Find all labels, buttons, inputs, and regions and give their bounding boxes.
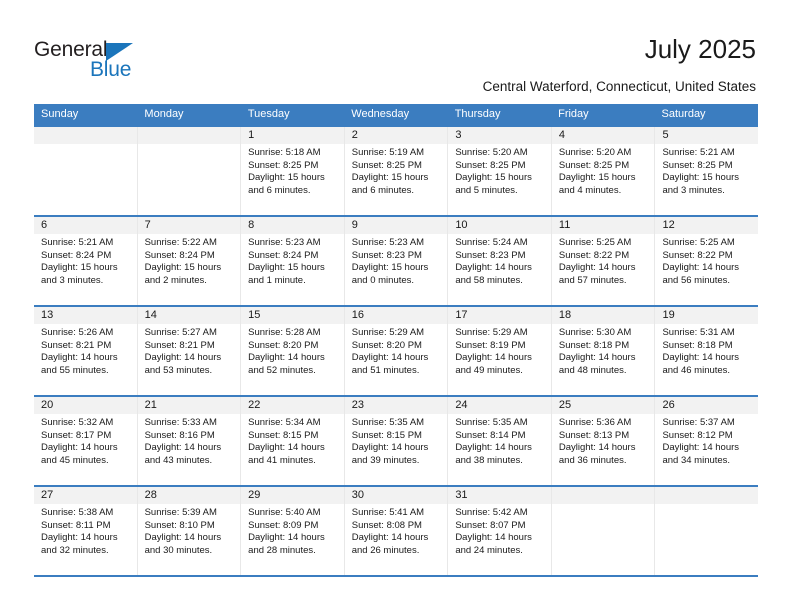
sunrise-text: Sunrise: 5:20 AM	[559, 147, 649, 160]
sunrise-text: Sunrise: 5:26 AM	[41, 327, 131, 340]
sunset-text: Sunset: 8:15 PM	[352, 430, 442, 443]
daylight-text-line2: and 58 minutes.	[455, 275, 545, 288]
day-number: 12	[655, 217, 758, 234]
weekday-header-sunday: Sunday	[34, 104, 137, 125]
day-cell[interactable]	[552, 487, 656, 575]
daylight-text-line2: and 4 minutes.	[559, 185, 649, 198]
day-cell[interactable]: 29 Sunrise: 5:40 AM Sunset: 8:09 PM Dayl…	[241, 487, 345, 575]
sunset-text: Sunset: 8:25 PM	[455, 160, 545, 173]
sunrise-text: Sunrise: 5:21 AM	[41, 237, 131, 250]
daylight-text-line2: and 38 minutes.	[455, 455, 545, 468]
sunset-text: Sunset: 8:21 PM	[145, 340, 235, 353]
day-number: 21	[138, 397, 241, 414]
location-subtitle: Central Waterford, Connecticut, United S…	[483, 79, 756, 94]
daylight-text-line1: Daylight: 14 hours	[248, 352, 338, 365]
day-cell[interactable]: 12 Sunrise: 5:25 AM Sunset: 8:22 PM Dayl…	[655, 217, 758, 305]
day-cell[interactable]: 6 Sunrise: 5:21 AM Sunset: 8:24 PM Dayli…	[34, 217, 138, 305]
day-details: Sunrise: 5:29 AM Sunset: 8:20 PM Dayligh…	[345, 324, 448, 377]
daylight-text-line2: and 49 minutes.	[455, 365, 545, 378]
calendar-week-row: 1 Sunrise: 5:18 AM Sunset: 8:25 PM Dayli…	[34, 125, 758, 215]
sunset-text: Sunset: 8:25 PM	[559, 160, 649, 173]
daylight-text-line1: Daylight: 15 hours	[455, 172, 545, 185]
daylight-text-line2: and 28 minutes.	[248, 545, 338, 558]
sunrise-text: Sunrise: 5:35 AM	[352, 417, 442, 430]
day-cell[interactable]: 19 Sunrise: 5:31 AM Sunset: 8:18 PM Dayl…	[655, 307, 758, 395]
sunset-text: Sunset: 8:24 PM	[41, 250, 131, 263]
sunset-text: Sunset: 8:18 PM	[662, 340, 752, 353]
daylight-text-line1: Daylight: 14 hours	[662, 352, 752, 365]
sunset-text: Sunset: 8:24 PM	[145, 250, 235, 263]
daylight-text-line1: Daylight: 14 hours	[662, 442, 752, 455]
daylight-text-line1: Daylight: 14 hours	[41, 352, 131, 365]
day-details: Sunrise: 5:30 AM Sunset: 8:18 PM Dayligh…	[552, 324, 655, 377]
day-cell[interactable]: 14 Sunrise: 5:27 AM Sunset: 8:21 PM Dayl…	[138, 307, 242, 395]
daylight-text-line1: Daylight: 14 hours	[352, 532, 442, 545]
day-number: 19	[655, 307, 758, 324]
day-details: Sunrise: 5:40 AM Sunset: 8:09 PM Dayligh…	[241, 504, 344, 557]
day-details	[552, 504, 655, 507]
day-details: Sunrise: 5:25 AM Sunset: 8:22 PM Dayligh…	[655, 234, 758, 287]
sunset-text: Sunset: 8:19 PM	[455, 340, 545, 353]
sunset-text: Sunset: 8:24 PM	[248, 250, 338, 263]
sunset-text: Sunset: 8:07 PM	[455, 520, 545, 533]
daylight-text-line1: Daylight: 15 hours	[145, 262, 235, 275]
day-cell[interactable]	[655, 487, 758, 575]
sunset-text: Sunset: 8:20 PM	[248, 340, 338, 353]
day-cell[interactable]: 16 Sunrise: 5:29 AM Sunset: 8:20 PM Dayl…	[345, 307, 449, 395]
daylight-text-line1: Daylight: 14 hours	[455, 532, 545, 545]
sunrise-text: Sunrise: 5:29 AM	[455, 327, 545, 340]
daylight-text-line1: Daylight: 14 hours	[248, 442, 338, 455]
sunset-text: Sunset: 8:22 PM	[559, 250, 649, 263]
daylight-text-line1: Daylight: 14 hours	[455, 262, 545, 275]
sunset-text: Sunset: 8:23 PM	[352, 250, 442, 263]
sunrise-text: Sunrise: 5:21 AM	[662, 147, 752, 160]
day-number: 8	[241, 217, 344, 234]
sunrise-text: Sunrise: 5:35 AM	[455, 417, 545, 430]
daylight-text-line1: Daylight: 14 hours	[455, 352, 545, 365]
day-number	[655, 487, 758, 504]
daylight-text-line2: and 43 minutes.	[145, 455, 235, 468]
daylight-text-line2: and 3 minutes.	[41, 275, 131, 288]
day-details	[655, 504, 758, 507]
daylight-text-line1: Daylight: 14 hours	[662, 262, 752, 275]
sunrise-text: Sunrise: 5:41 AM	[352, 507, 442, 520]
sunset-text: Sunset: 8:11 PM	[41, 520, 131, 533]
day-cell[interactable]: 2 Sunrise: 5:19 AM Sunset: 8:25 PM Dayli…	[345, 127, 449, 215]
daylight-text-line2: and 46 minutes.	[662, 365, 752, 378]
day-cell[interactable]: 5 Sunrise: 5:21 AM Sunset: 8:25 PM Dayli…	[655, 127, 758, 215]
day-number: 6	[34, 217, 137, 234]
sunrise-text: Sunrise: 5:19 AM	[352, 147, 442, 160]
day-number: 16	[345, 307, 448, 324]
sunset-text: Sunset: 8:20 PM	[352, 340, 442, 353]
day-number: 28	[138, 487, 241, 504]
sunrise-text: Sunrise: 5:32 AM	[41, 417, 131, 430]
sunset-text: Sunset: 8:08 PM	[352, 520, 442, 533]
daylight-text-line2: and 30 minutes.	[145, 545, 235, 558]
sunrise-text: Sunrise: 5:31 AM	[662, 327, 752, 340]
day-cell[interactable]: 8 Sunrise: 5:23 AM Sunset: 8:24 PM Dayli…	[241, 217, 345, 305]
daylight-text-line1: Daylight: 14 hours	[352, 352, 442, 365]
day-number: 9	[345, 217, 448, 234]
daylight-text-line1: Daylight: 15 hours	[248, 172, 338, 185]
day-number	[138, 127, 241, 144]
day-number: 25	[552, 397, 655, 414]
day-number: 31	[448, 487, 551, 504]
daylight-text-line2: and 24 minutes.	[455, 545, 545, 558]
day-details: Sunrise: 5:38 AM Sunset: 8:11 PM Dayligh…	[34, 504, 137, 557]
day-cell[interactable]: 31 Sunrise: 5:42 AM Sunset: 8:07 PM Dayl…	[448, 487, 552, 575]
day-details: Sunrise: 5:37 AM Sunset: 8:12 PM Dayligh…	[655, 414, 758, 467]
day-number: 10	[448, 217, 551, 234]
day-details: Sunrise: 5:25 AM Sunset: 8:22 PM Dayligh…	[552, 234, 655, 287]
day-cell[interactable]: 3 Sunrise: 5:20 AM Sunset: 8:25 PM Dayli…	[448, 127, 552, 215]
sunrise-text: Sunrise: 5:40 AM	[248, 507, 338, 520]
daylight-text-line2: and 3 minutes.	[662, 185, 752, 198]
sunrise-text: Sunrise: 5:25 AM	[662, 237, 752, 250]
day-details: Sunrise: 5:21 AM Sunset: 8:24 PM Dayligh…	[34, 234, 137, 287]
day-cell[interactable]: 15 Sunrise: 5:28 AM Sunset: 8:20 PM Dayl…	[241, 307, 345, 395]
day-details: Sunrise: 5:20 AM Sunset: 8:25 PM Dayligh…	[448, 144, 551, 197]
daylight-text-line2: and 53 minutes.	[145, 365, 235, 378]
daylight-text-line2: and 2 minutes.	[145, 275, 235, 288]
daylight-text-line2: and 32 minutes.	[41, 545, 131, 558]
daylight-text-line2: and 41 minutes.	[248, 455, 338, 468]
daylight-text-line1: Daylight: 14 hours	[145, 442, 235, 455]
page-header: General Blue July 2025 Central Waterford…	[0, 0, 792, 104]
day-cell[interactable]: 7 Sunrise: 5:22 AM Sunset: 8:24 PM Dayli…	[138, 217, 242, 305]
sunset-text: Sunset: 8:12 PM	[662, 430, 752, 443]
daylight-text-line2: and 34 minutes.	[662, 455, 752, 468]
sunrise-text: Sunrise: 5:30 AM	[559, 327, 649, 340]
day-details: Sunrise: 5:27 AM Sunset: 8:21 PM Dayligh…	[138, 324, 241, 377]
sunset-text: Sunset: 8:25 PM	[352, 160, 442, 173]
sunrise-text: Sunrise: 5:37 AM	[662, 417, 752, 430]
sunset-text: Sunset: 8:16 PM	[145, 430, 235, 443]
day-cell[interactable]: 11 Sunrise: 5:25 AM Sunset: 8:22 PM Dayl…	[552, 217, 656, 305]
sunset-text: Sunset: 8:25 PM	[248, 160, 338, 173]
sunrise-text: Sunrise: 5:18 AM	[248, 147, 338, 160]
daylight-text-line2: and 0 minutes.	[352, 275, 442, 288]
day-details: Sunrise: 5:35 AM Sunset: 8:14 PM Dayligh…	[448, 414, 551, 467]
day-details	[138, 144, 241, 147]
weekday-header-thursday: Thursday	[448, 104, 551, 125]
day-cell[interactable]: 20 Sunrise: 5:32 AM Sunset: 8:17 PM Dayl…	[34, 397, 138, 485]
calendar-grid: Sunday Monday Tuesday Wednesday Thursday…	[34, 104, 758, 577]
day-cell[interactable]: 4 Sunrise: 5:20 AM Sunset: 8:25 PM Dayli…	[552, 127, 656, 215]
day-number: 4	[552, 127, 655, 144]
day-number	[34, 127, 137, 144]
daylight-text-line1: Daylight: 14 hours	[559, 442, 649, 455]
day-number: 14	[138, 307, 241, 324]
day-number: 20	[34, 397, 137, 414]
day-cell[interactable]: 18 Sunrise: 5:30 AM Sunset: 8:18 PM Dayl…	[552, 307, 656, 395]
weekday-header-friday: Friday	[551, 104, 654, 125]
day-details: Sunrise: 5:32 AM Sunset: 8:17 PM Dayligh…	[34, 414, 137, 467]
day-number: 15	[241, 307, 344, 324]
day-number: 22	[241, 397, 344, 414]
day-number: 13	[34, 307, 137, 324]
daylight-text-line2: and 39 minutes.	[352, 455, 442, 468]
daylight-text-line2: and 56 minutes.	[662, 275, 752, 288]
daylight-text-line2: and 36 minutes.	[559, 455, 649, 468]
day-details: Sunrise: 5:31 AM Sunset: 8:18 PM Dayligh…	[655, 324, 758, 377]
sunrise-text: Sunrise: 5:29 AM	[352, 327, 442, 340]
daylight-text-line1: Daylight: 15 hours	[41, 262, 131, 275]
daylight-text-line1: Daylight: 14 hours	[145, 352, 235, 365]
sunset-text: Sunset: 8:25 PM	[662, 160, 752, 173]
day-cell[interactable]: 21 Sunrise: 5:33 AM Sunset: 8:16 PM Dayl…	[138, 397, 242, 485]
day-cell[interactable]: 9 Sunrise: 5:23 AM Sunset: 8:23 PM Dayli…	[345, 217, 449, 305]
weekday-header-tuesday: Tuesday	[241, 104, 344, 125]
day-details: Sunrise: 5:33 AM Sunset: 8:16 PM Dayligh…	[138, 414, 241, 467]
sunset-text: Sunset: 8:22 PM	[662, 250, 752, 263]
sunset-text: Sunset: 8:23 PM	[455, 250, 545, 263]
calendar-page: General Blue July 2025 Central Waterford…	[0, 0, 792, 612]
sunset-text: Sunset: 8:14 PM	[455, 430, 545, 443]
daylight-text-line1: Daylight: 14 hours	[559, 352, 649, 365]
day-number: 1	[241, 127, 344, 144]
sunset-text: Sunset: 8:10 PM	[145, 520, 235, 533]
daylight-text-line2: and 6 minutes.	[352, 185, 442, 198]
weekday-header-saturday: Saturday	[655, 104, 758, 125]
daylight-text-line2: and 1 minute.	[248, 275, 338, 288]
day-cell[interactable]: 30 Sunrise: 5:41 AM Sunset: 8:08 PM Dayl…	[345, 487, 449, 575]
day-number: 26	[655, 397, 758, 414]
daylight-text-line2: and 51 minutes.	[352, 365, 442, 378]
daylight-text-line2: and 55 minutes.	[41, 365, 131, 378]
page-title: July 2025	[645, 34, 756, 65]
day-cell[interactable]: 13 Sunrise: 5:26 AM Sunset: 8:21 PM Dayl…	[34, 307, 138, 395]
day-details: Sunrise: 5:18 AM Sunset: 8:25 PM Dayligh…	[241, 144, 344, 197]
day-cell[interactable]: 17 Sunrise: 5:29 AM Sunset: 8:19 PM Dayl…	[448, 307, 552, 395]
daylight-text-line1: Daylight: 14 hours	[41, 442, 131, 455]
day-details: Sunrise: 5:39 AM Sunset: 8:10 PM Dayligh…	[138, 504, 241, 557]
sunrise-text: Sunrise: 5:28 AM	[248, 327, 338, 340]
day-cell[interactable]: 24 Sunrise: 5:35 AM Sunset: 8:14 PM Dayl…	[448, 397, 552, 485]
daylight-text-line1: Daylight: 15 hours	[352, 172, 442, 185]
calendar-week-row: 13 Sunrise: 5:26 AM Sunset: 8:21 PM Dayl…	[34, 305, 758, 395]
daylight-text-line2: and 57 minutes.	[559, 275, 649, 288]
day-cell[interactable]	[34, 127, 138, 215]
calendar-week-row: 20 Sunrise: 5:32 AM Sunset: 8:17 PM Dayl…	[34, 395, 758, 485]
day-number: 18	[552, 307, 655, 324]
day-cell[interactable]: 10 Sunrise: 5:24 AM Sunset: 8:23 PM Dayl…	[448, 217, 552, 305]
daylight-text-line2: and 6 minutes.	[248, 185, 338, 198]
day-details: Sunrise: 5:20 AM Sunset: 8:25 PM Dayligh…	[552, 144, 655, 197]
day-details	[34, 144, 137, 147]
sunset-text: Sunset: 8:18 PM	[559, 340, 649, 353]
day-details: Sunrise: 5:28 AM Sunset: 8:20 PM Dayligh…	[241, 324, 344, 377]
day-cell[interactable]: 23 Sunrise: 5:35 AM Sunset: 8:15 PM Dayl…	[345, 397, 449, 485]
day-cell[interactable]: 22 Sunrise: 5:34 AM Sunset: 8:15 PM Dayl…	[241, 397, 345, 485]
daylight-text-line1: Daylight: 14 hours	[145, 532, 235, 545]
sunrise-text: Sunrise: 5:24 AM	[455, 237, 545, 250]
day-details: Sunrise: 5:26 AM Sunset: 8:21 PM Dayligh…	[34, 324, 137, 377]
sunrise-text: Sunrise: 5:42 AM	[455, 507, 545, 520]
day-cell[interactable]: 27 Sunrise: 5:38 AM Sunset: 8:11 PM Dayl…	[34, 487, 138, 575]
daylight-text-line2: and 5 minutes.	[455, 185, 545, 198]
day-number: 5	[655, 127, 758, 144]
sunrise-text: Sunrise: 5:23 AM	[352, 237, 442, 250]
day-details: Sunrise: 5:36 AM Sunset: 8:13 PM Dayligh…	[552, 414, 655, 467]
sunrise-text: Sunrise: 5:27 AM	[145, 327, 235, 340]
weekday-header-row: Sunday Monday Tuesday Wednesday Thursday…	[34, 104, 758, 125]
sunset-text: Sunset: 8:21 PM	[41, 340, 131, 353]
daylight-text-line2: and 45 minutes.	[41, 455, 131, 468]
daylight-text-line2: and 26 minutes.	[352, 545, 442, 558]
logo-text-blue: Blue	[90, 58, 131, 82]
day-number: 23	[345, 397, 448, 414]
sunset-text: Sunset: 8:09 PM	[248, 520, 338, 533]
sunrise-text: Sunrise: 5:22 AM	[145, 237, 235, 250]
day-cell[interactable]: 28 Sunrise: 5:39 AM Sunset: 8:10 PM Dayl…	[138, 487, 242, 575]
day-number: 3	[448, 127, 551, 144]
day-cell[interactable]: 26 Sunrise: 5:37 AM Sunset: 8:12 PM Dayl…	[655, 397, 758, 485]
daylight-text-line1: Daylight: 15 hours	[248, 262, 338, 275]
daylight-text-line1: Daylight: 14 hours	[455, 442, 545, 455]
weekday-header-wednesday: Wednesday	[344, 104, 447, 125]
daylight-text-line2: and 48 minutes.	[559, 365, 649, 378]
day-details: Sunrise: 5:35 AM Sunset: 8:15 PM Dayligh…	[345, 414, 448, 467]
daylight-text-line1: Daylight: 14 hours	[352, 442, 442, 455]
day-details: Sunrise: 5:41 AM Sunset: 8:08 PM Dayligh…	[345, 504, 448, 557]
sunset-text: Sunset: 8:15 PM	[248, 430, 338, 443]
sunrise-text: Sunrise: 5:38 AM	[41, 507, 131, 520]
calendar-week-row: 6 Sunrise: 5:21 AM Sunset: 8:24 PM Dayli…	[34, 215, 758, 305]
weekday-header-monday: Monday	[137, 104, 240, 125]
sunrise-text: Sunrise: 5:36 AM	[559, 417, 649, 430]
daylight-text-line1: Daylight: 14 hours	[41, 532, 131, 545]
day-number: 30	[345, 487, 448, 504]
day-details: Sunrise: 5:29 AM Sunset: 8:19 PM Dayligh…	[448, 324, 551, 377]
daylight-text-line1: Daylight: 14 hours	[559, 262, 649, 275]
day-details: Sunrise: 5:42 AM Sunset: 8:07 PM Dayligh…	[448, 504, 551, 557]
day-details: Sunrise: 5:21 AM Sunset: 8:25 PM Dayligh…	[655, 144, 758, 197]
day-number	[552, 487, 655, 504]
sunrise-text: Sunrise: 5:23 AM	[248, 237, 338, 250]
day-details: Sunrise: 5:22 AM Sunset: 8:24 PM Dayligh…	[138, 234, 241, 287]
day-number: 27	[34, 487, 137, 504]
day-number: 2	[345, 127, 448, 144]
sunset-text: Sunset: 8:13 PM	[559, 430, 649, 443]
daylight-text-line2: and 52 minutes.	[248, 365, 338, 378]
calendar-week-row: 27 Sunrise: 5:38 AM Sunset: 8:11 PM Dayl…	[34, 485, 758, 575]
sunset-text: Sunset: 8:17 PM	[41, 430, 131, 443]
day-number: 11	[552, 217, 655, 234]
day-details: Sunrise: 5:23 AM Sunset: 8:23 PM Dayligh…	[345, 234, 448, 287]
day-number: 29	[241, 487, 344, 504]
day-cell[interactable]: 25 Sunrise: 5:36 AM Sunset: 8:13 PM Dayl…	[552, 397, 656, 485]
sunrise-text: Sunrise: 5:20 AM	[455, 147, 545, 160]
daylight-text-line1: Daylight: 15 hours	[352, 262, 442, 275]
daylight-text-line1: Daylight: 14 hours	[248, 532, 338, 545]
day-details: Sunrise: 5:34 AM Sunset: 8:15 PM Dayligh…	[241, 414, 344, 467]
day-details: Sunrise: 5:23 AM Sunset: 8:24 PM Dayligh…	[241, 234, 344, 287]
daylight-text-line1: Daylight: 15 hours	[559, 172, 649, 185]
generalblue-logo[interactable]: General Blue	[34, 38, 184, 86]
sunrise-text: Sunrise: 5:25 AM	[559, 237, 649, 250]
day-cell[interactable]	[138, 127, 242, 215]
day-details: Sunrise: 5:19 AM Sunset: 8:25 PM Dayligh…	[345, 144, 448, 197]
day-number: 7	[138, 217, 241, 234]
day-details: Sunrise: 5:24 AM Sunset: 8:23 PM Dayligh…	[448, 234, 551, 287]
sunrise-text: Sunrise: 5:39 AM	[145, 507, 235, 520]
day-cell[interactable]: 1 Sunrise: 5:18 AM Sunset: 8:25 PM Dayli…	[241, 127, 345, 215]
sunrise-text: Sunrise: 5:34 AM	[248, 417, 338, 430]
day-number: 17	[448, 307, 551, 324]
sunrise-text: Sunrise: 5:33 AM	[145, 417, 235, 430]
calendar-bottom-rule	[34, 575, 758, 577]
day-number: 24	[448, 397, 551, 414]
daylight-text-line1: Daylight: 15 hours	[662, 172, 752, 185]
